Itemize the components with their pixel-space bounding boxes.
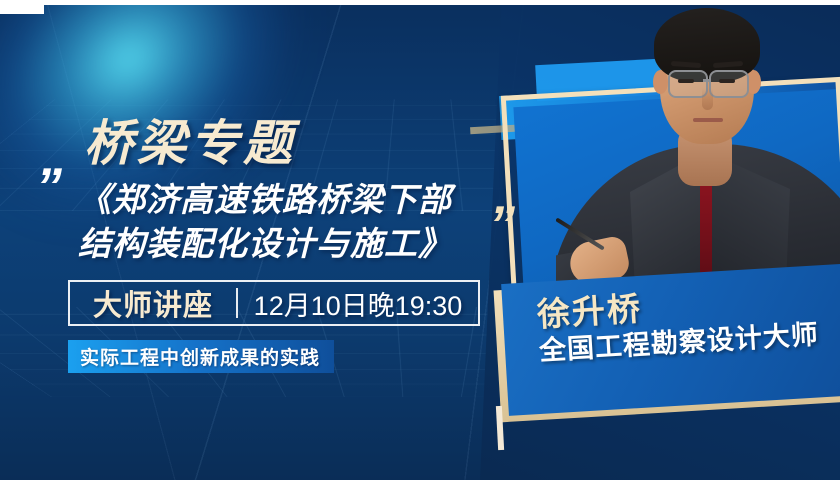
photo-mouth [693,118,723,122]
top-left-white-block [0,0,44,14]
photo-glasses-right-lens [709,70,749,98]
series-title: 桥梁专题 [84,104,296,175]
lecture-label: 大师讲座 [70,282,236,324]
poster-canvas: 徐升桥 全国工程勘察设计大师 桥梁专题 ” ” 《郑济高速铁路桥梁下部 结构装配… [0,0,840,480]
lecture-info-bar: 大师讲座 12月10日晚19:30 [68,280,480,326]
book-title-line-2: 结构装配化设计与施工》 [78,222,498,266]
photo-glasses-bridge [703,79,711,82]
lecture-datetime: 12月10日晚19:30 [238,282,478,324]
book-title: 《郑济高速铁路桥梁下部 结构装配化设计与施工》 [78,178,498,265]
top-white-sliver [0,0,840,5]
quote-open-icon: ” [36,172,58,203]
photo-eye-left [678,79,694,83]
speaker-nameplate: 徐升桥 全国工程勘察设计大师 [493,264,840,425]
photo-eye-right [719,79,735,83]
tagline-bar: 实际工程中创新成果的实践 [68,340,334,373]
book-title-line-1: 《郑济高速铁路桥梁下部 [78,178,498,222]
photo-nose [702,88,713,110]
speaker-photo [556,0,840,294]
